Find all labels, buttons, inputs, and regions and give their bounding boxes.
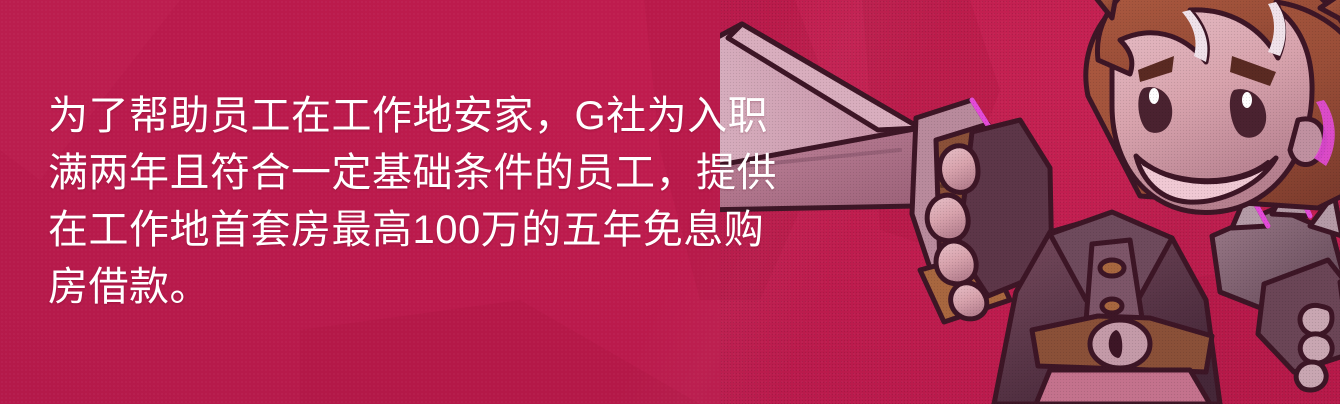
copy-line-2: 满两年且符合一定基础条件的员工，提供: [48, 145, 838, 202]
banner-copy: 为了帮助员工在工作地安家，G社为入职 满两年且符合一定基础条件的员工，提供 在工…: [48, 88, 838, 316]
copy-line-1: 为了帮助员工在工作地安家，G社为入职: [48, 88, 838, 145]
copy-line-4: 房借款。: [48, 259, 838, 316]
copy-line-3: 在工作地首套房最高100万的五年免息购: [48, 202, 838, 259]
promo-banner: 为了帮助员工在工作地安家，G社为入职 满两年且符合一定基础条件的员工，提供 在工…: [0, 0, 1340, 404]
